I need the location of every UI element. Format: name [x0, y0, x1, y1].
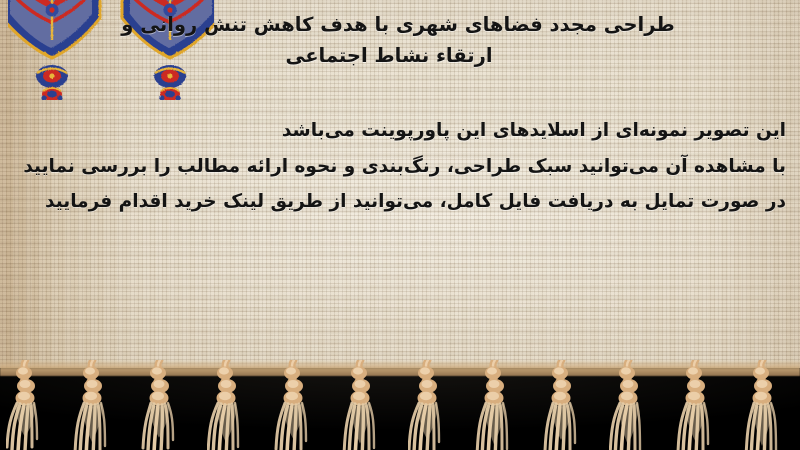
fringe-rail	[0, 360, 800, 376]
slide-text-layer: طراحی مجدد فضاهای شهری با هدف کاهش تنش ر…	[0, 0, 800, 378]
carpet-black-border	[0, 368, 800, 450]
title-line-2: ارتقاء نشاط اجتماعی	[8, 41, 788, 72]
body-line-3: در صورت تمایل به دریافت فایل کامل، می‌تو…	[8, 184, 790, 220]
body-line-2: با مشاهده آن می‌توانید سبک طراحی، رنگ‌بن…	[8, 149, 790, 185]
body-line-1: این تصویر نمونه‌ای از اسلایدهای این پاور…	[8, 113, 790, 149]
slide-title: طراحی مجدد فضاهای شهری با هدف کاهش تنش ر…	[8, 10, 788, 72]
slide-body: این تصویر نمونه‌ای از اسلایدهای این پاور…	[8, 113, 790, 220]
slide-canvas: طراحی مجدد فضاهای شهری با هدف کاهش تنش ر…	[0, 0, 800, 450]
title-line-1: طراحی مجدد فضاهای شهری با هدف کاهش تنش ر…	[8, 10, 788, 41]
